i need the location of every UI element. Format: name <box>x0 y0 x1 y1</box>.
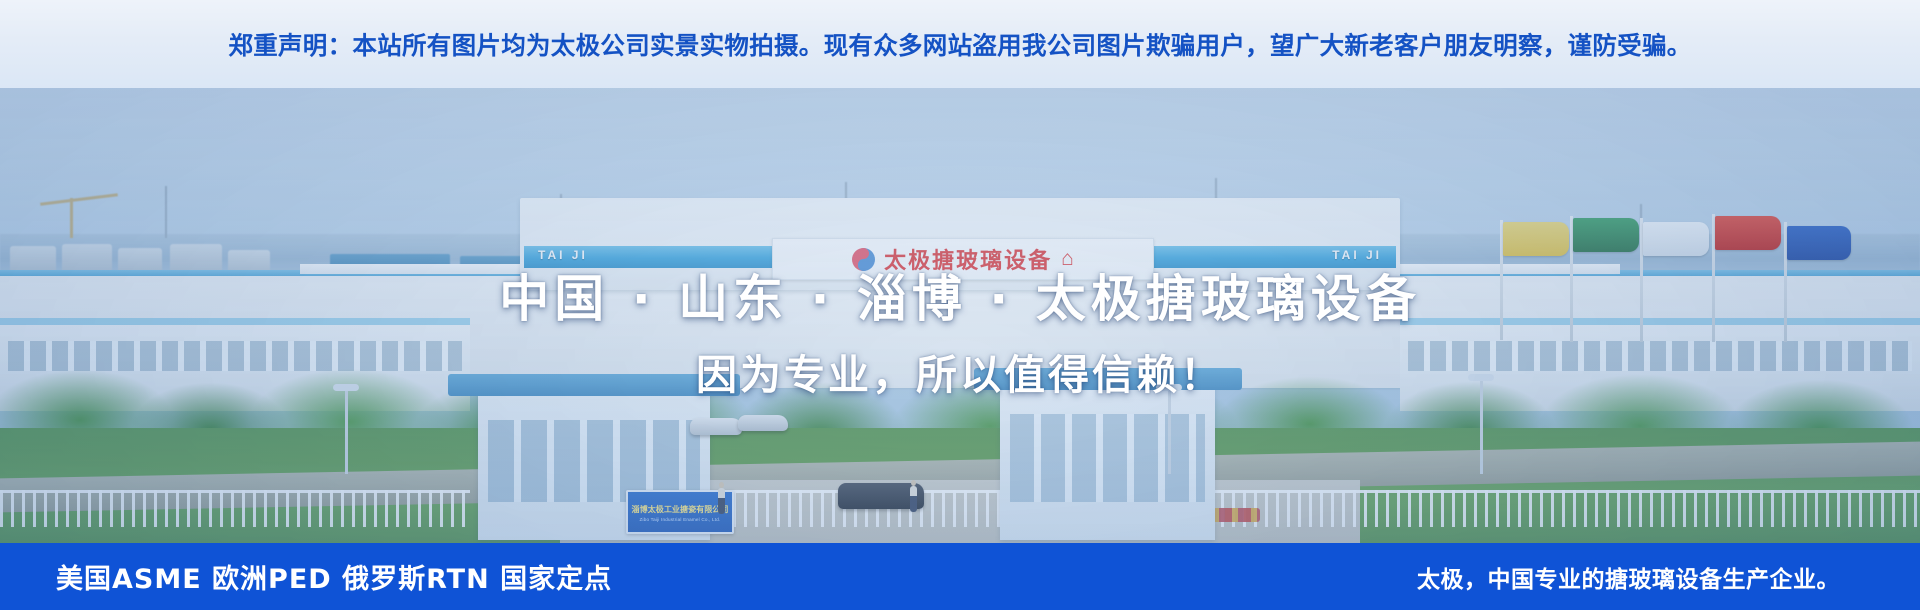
certifications-text: 美国ASME 欧洲PED 俄罗斯RTN 国家定点 <box>56 543 612 610</box>
street-lamp-head <box>1156 384 1182 391</box>
street-lamp-post <box>1480 378 1483 474</box>
company-signboard-text: 太极搪玻璃设备 <box>884 243 1052 275</box>
flag-green <box>1573 218 1639 252</box>
gate-house-roof <box>974 368 1242 390</box>
site-hero-banner: 郑重声明：本站所有图片均为太极公司实景实物拍摄。现有众多网站盗用我公司图片欺骗用… <box>0 0 1920 610</box>
factory-photograph: TAI JI TAI JI 太极搪玻璃设备 ⌂ 淄博太极工业搪瓷 <box>0 88 1920 543</box>
car-white <box>690 418 742 435</box>
person-figure <box>910 486 917 512</box>
street-lamp-post <box>345 388 348 474</box>
utility-pole <box>165 186 167 238</box>
company-signboard: 太极搪玻璃设备 ⌂ <box>772 238 1154 280</box>
flag-white <box>1643 222 1709 256</box>
car-white <box>738 415 788 431</box>
white-fence-left <box>0 490 470 527</box>
person-figure <box>718 488 725 514</box>
bottom-blue-bar: 美国ASME 欧洲PED 俄罗斯RTN 国家定点 太极，中国专业的搪玻璃设备生产… <box>0 543 1920 610</box>
band-label-left: TAI JI <box>538 248 588 262</box>
flag-yellow <box>1503 222 1569 256</box>
street-lamp-head <box>333 384 359 391</box>
nameplate-chinese-text: 淄博太极工业搪瓷有限公司 <box>632 503 729 514</box>
gate-house-glazing <box>1010 414 1205 502</box>
signboard-house-mark-icon: ⌂ <box>1061 247 1074 271</box>
street-lamp-post <box>1168 388 1171 474</box>
gate-house-right <box>1000 384 1215 540</box>
flag-blue <box>1787 226 1851 260</box>
company-tagline-text: 太极，中国专业的搪玻璃设备生产企业。 <box>1417 543 1840 610</box>
band-label-right: TAI JI <box>1332 248 1382 262</box>
disclaimer-notice-strip: 郑重声明：本站所有图片均为太极公司实景实物拍摄。现有众多网站盗用我公司图片欺骗用… <box>0 0 1920 88</box>
white-fence-right <box>1210 490 1920 527</box>
taiji-yinyang-logo-icon <box>852 248 875 271</box>
gate-house-roof <box>448 374 740 396</box>
construction-crane-mast <box>70 198 73 238</box>
disclaimer-notice-text: 郑重声明：本站所有图片均为太极公司实景实物拍摄。现有众多网站盗用我公司图片欺骗用… <box>228 27 1691 62</box>
nameplate-english-text: Zibo Taiji Industrial Enamel Co., Ltd. <box>639 517 720 522</box>
street-lamp-head <box>1468 374 1494 381</box>
flag-red <box>1715 216 1781 250</box>
